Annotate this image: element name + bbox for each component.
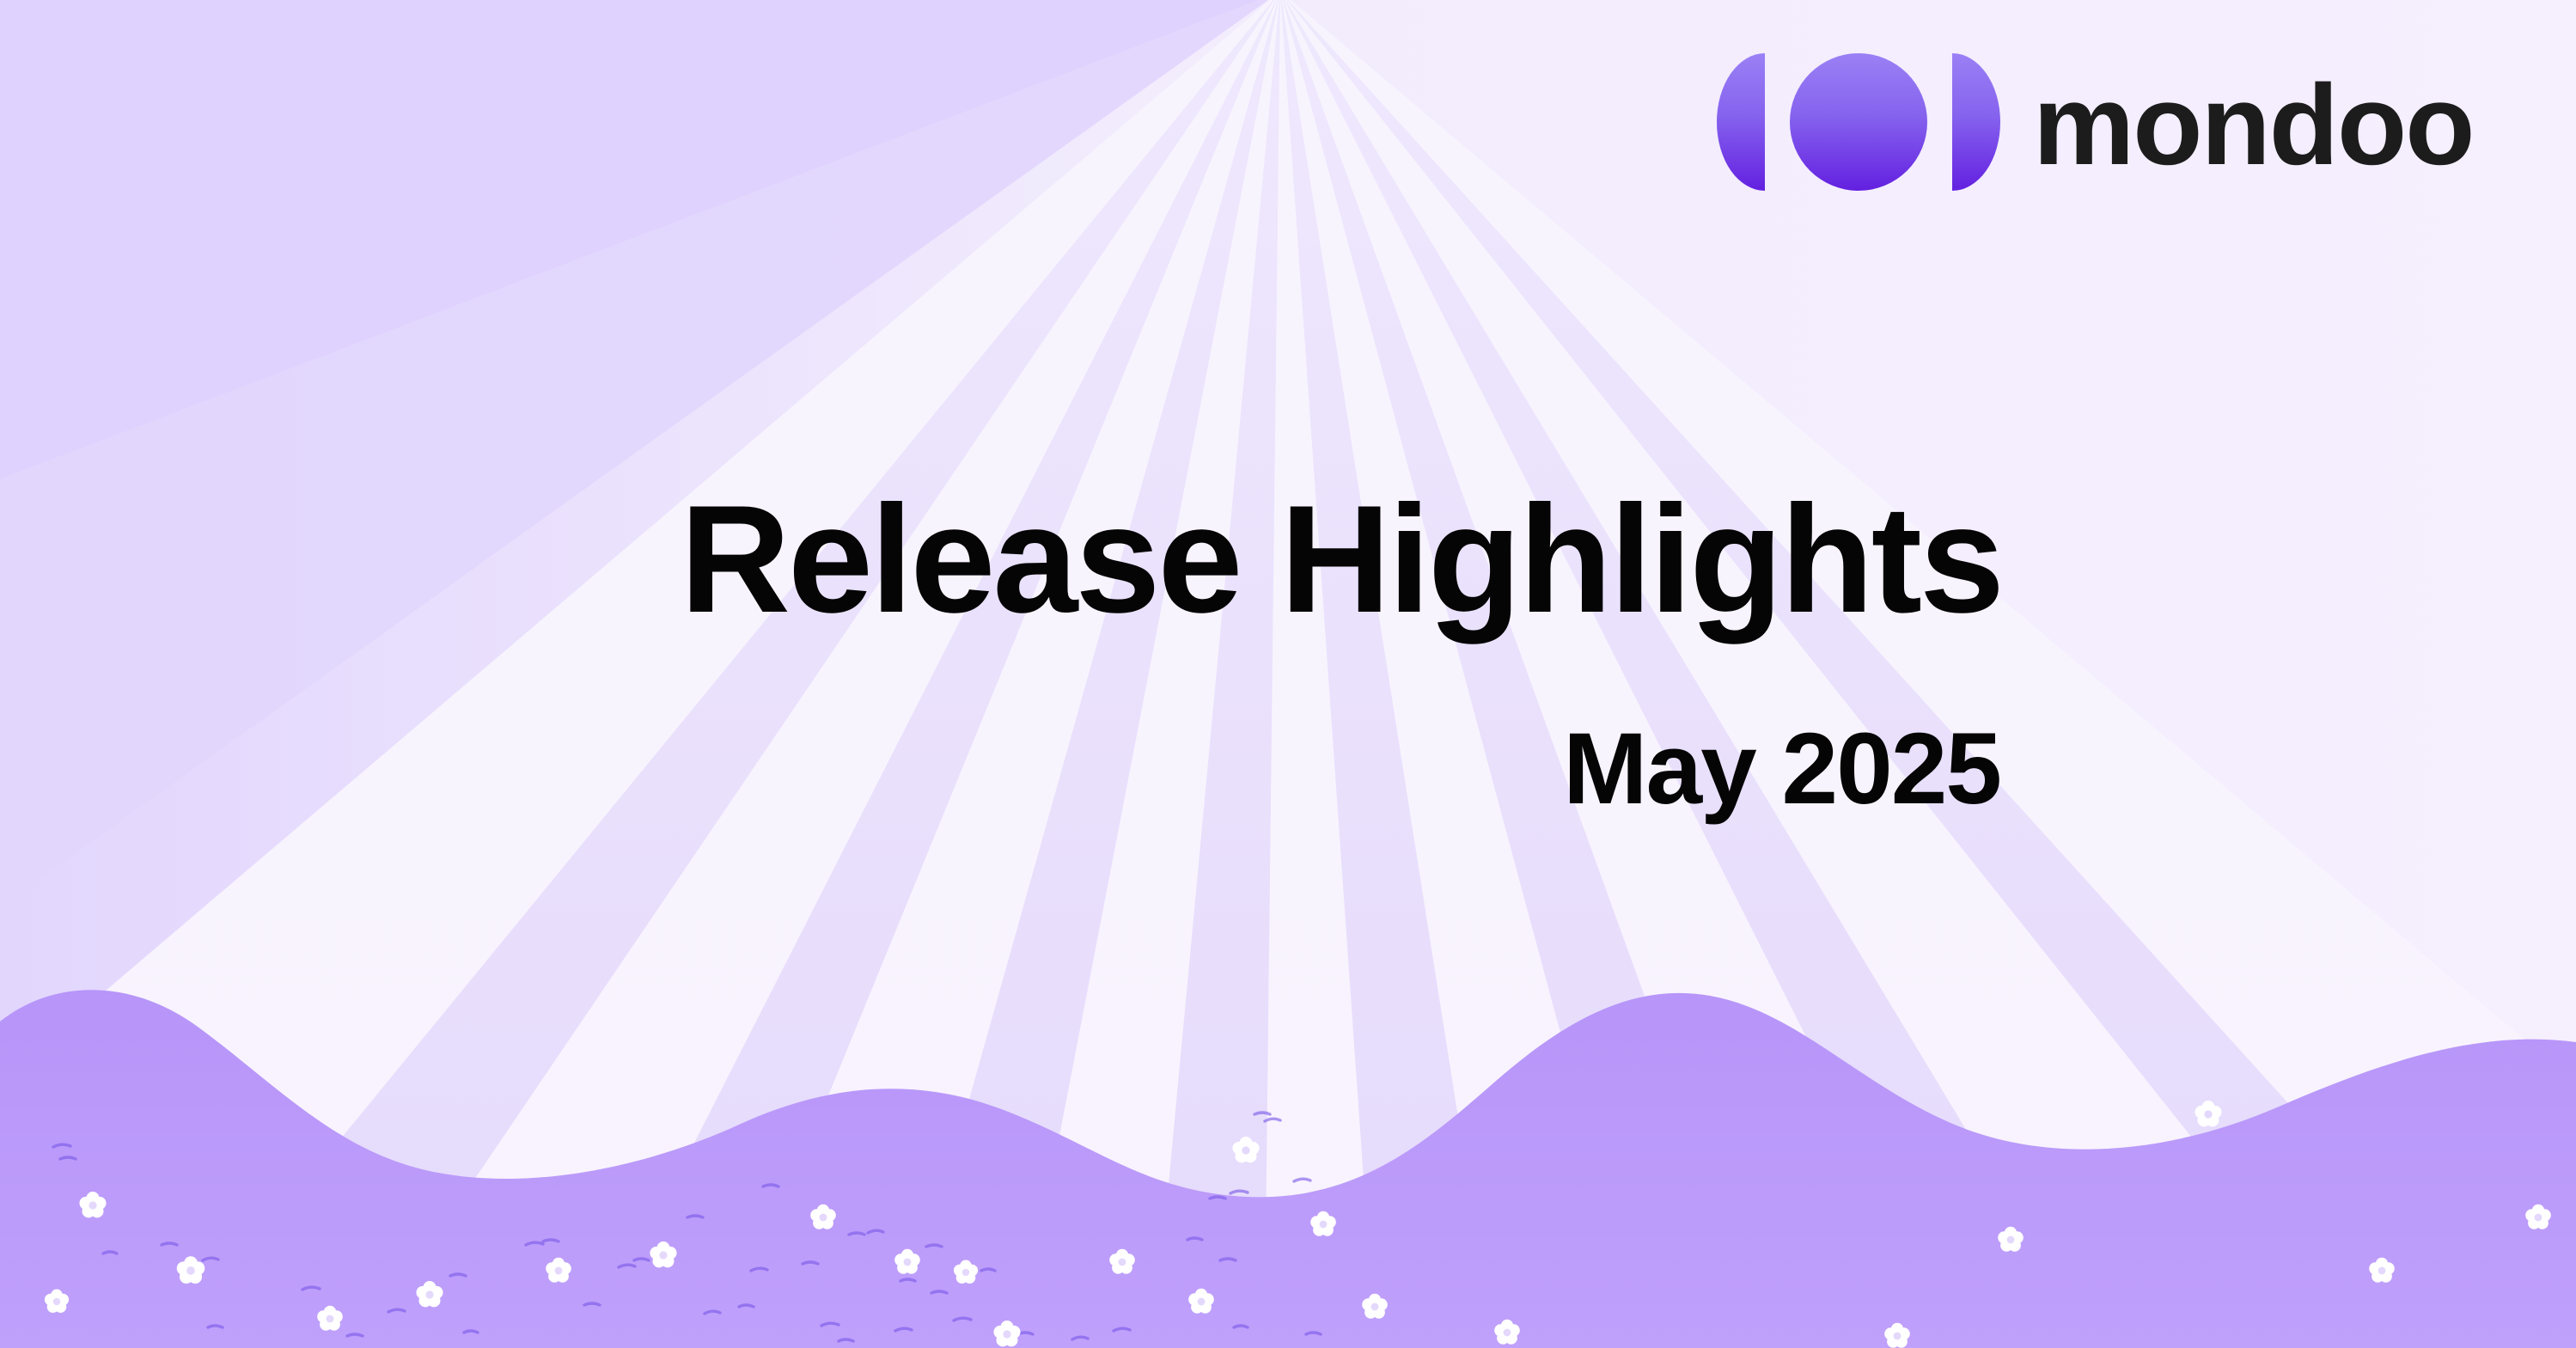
page-title: Release Highlights — [680, 481, 2002, 637]
page-subtitle: May 2025 — [1563, 717, 2000, 823]
wave-shape — [0, 990, 2576, 1348]
mondoo-logo-mark — [1717, 53, 2000, 191]
headline-block: Release Highlights May 2025 — [0, 481, 2002, 822]
brand-lockup: mondoo — [1717, 53, 2473, 191]
flower — [1232, 1137, 1259, 1162]
meadow-wave — [0, 987, 2576, 1348]
mondoo-wordmark: mondoo — [2033, 69, 2473, 183]
flower — [2194, 1101, 2221, 1126]
release-highlights-banner: mondoo Release Highlights May 2025 — [0, 0, 2576, 1348]
